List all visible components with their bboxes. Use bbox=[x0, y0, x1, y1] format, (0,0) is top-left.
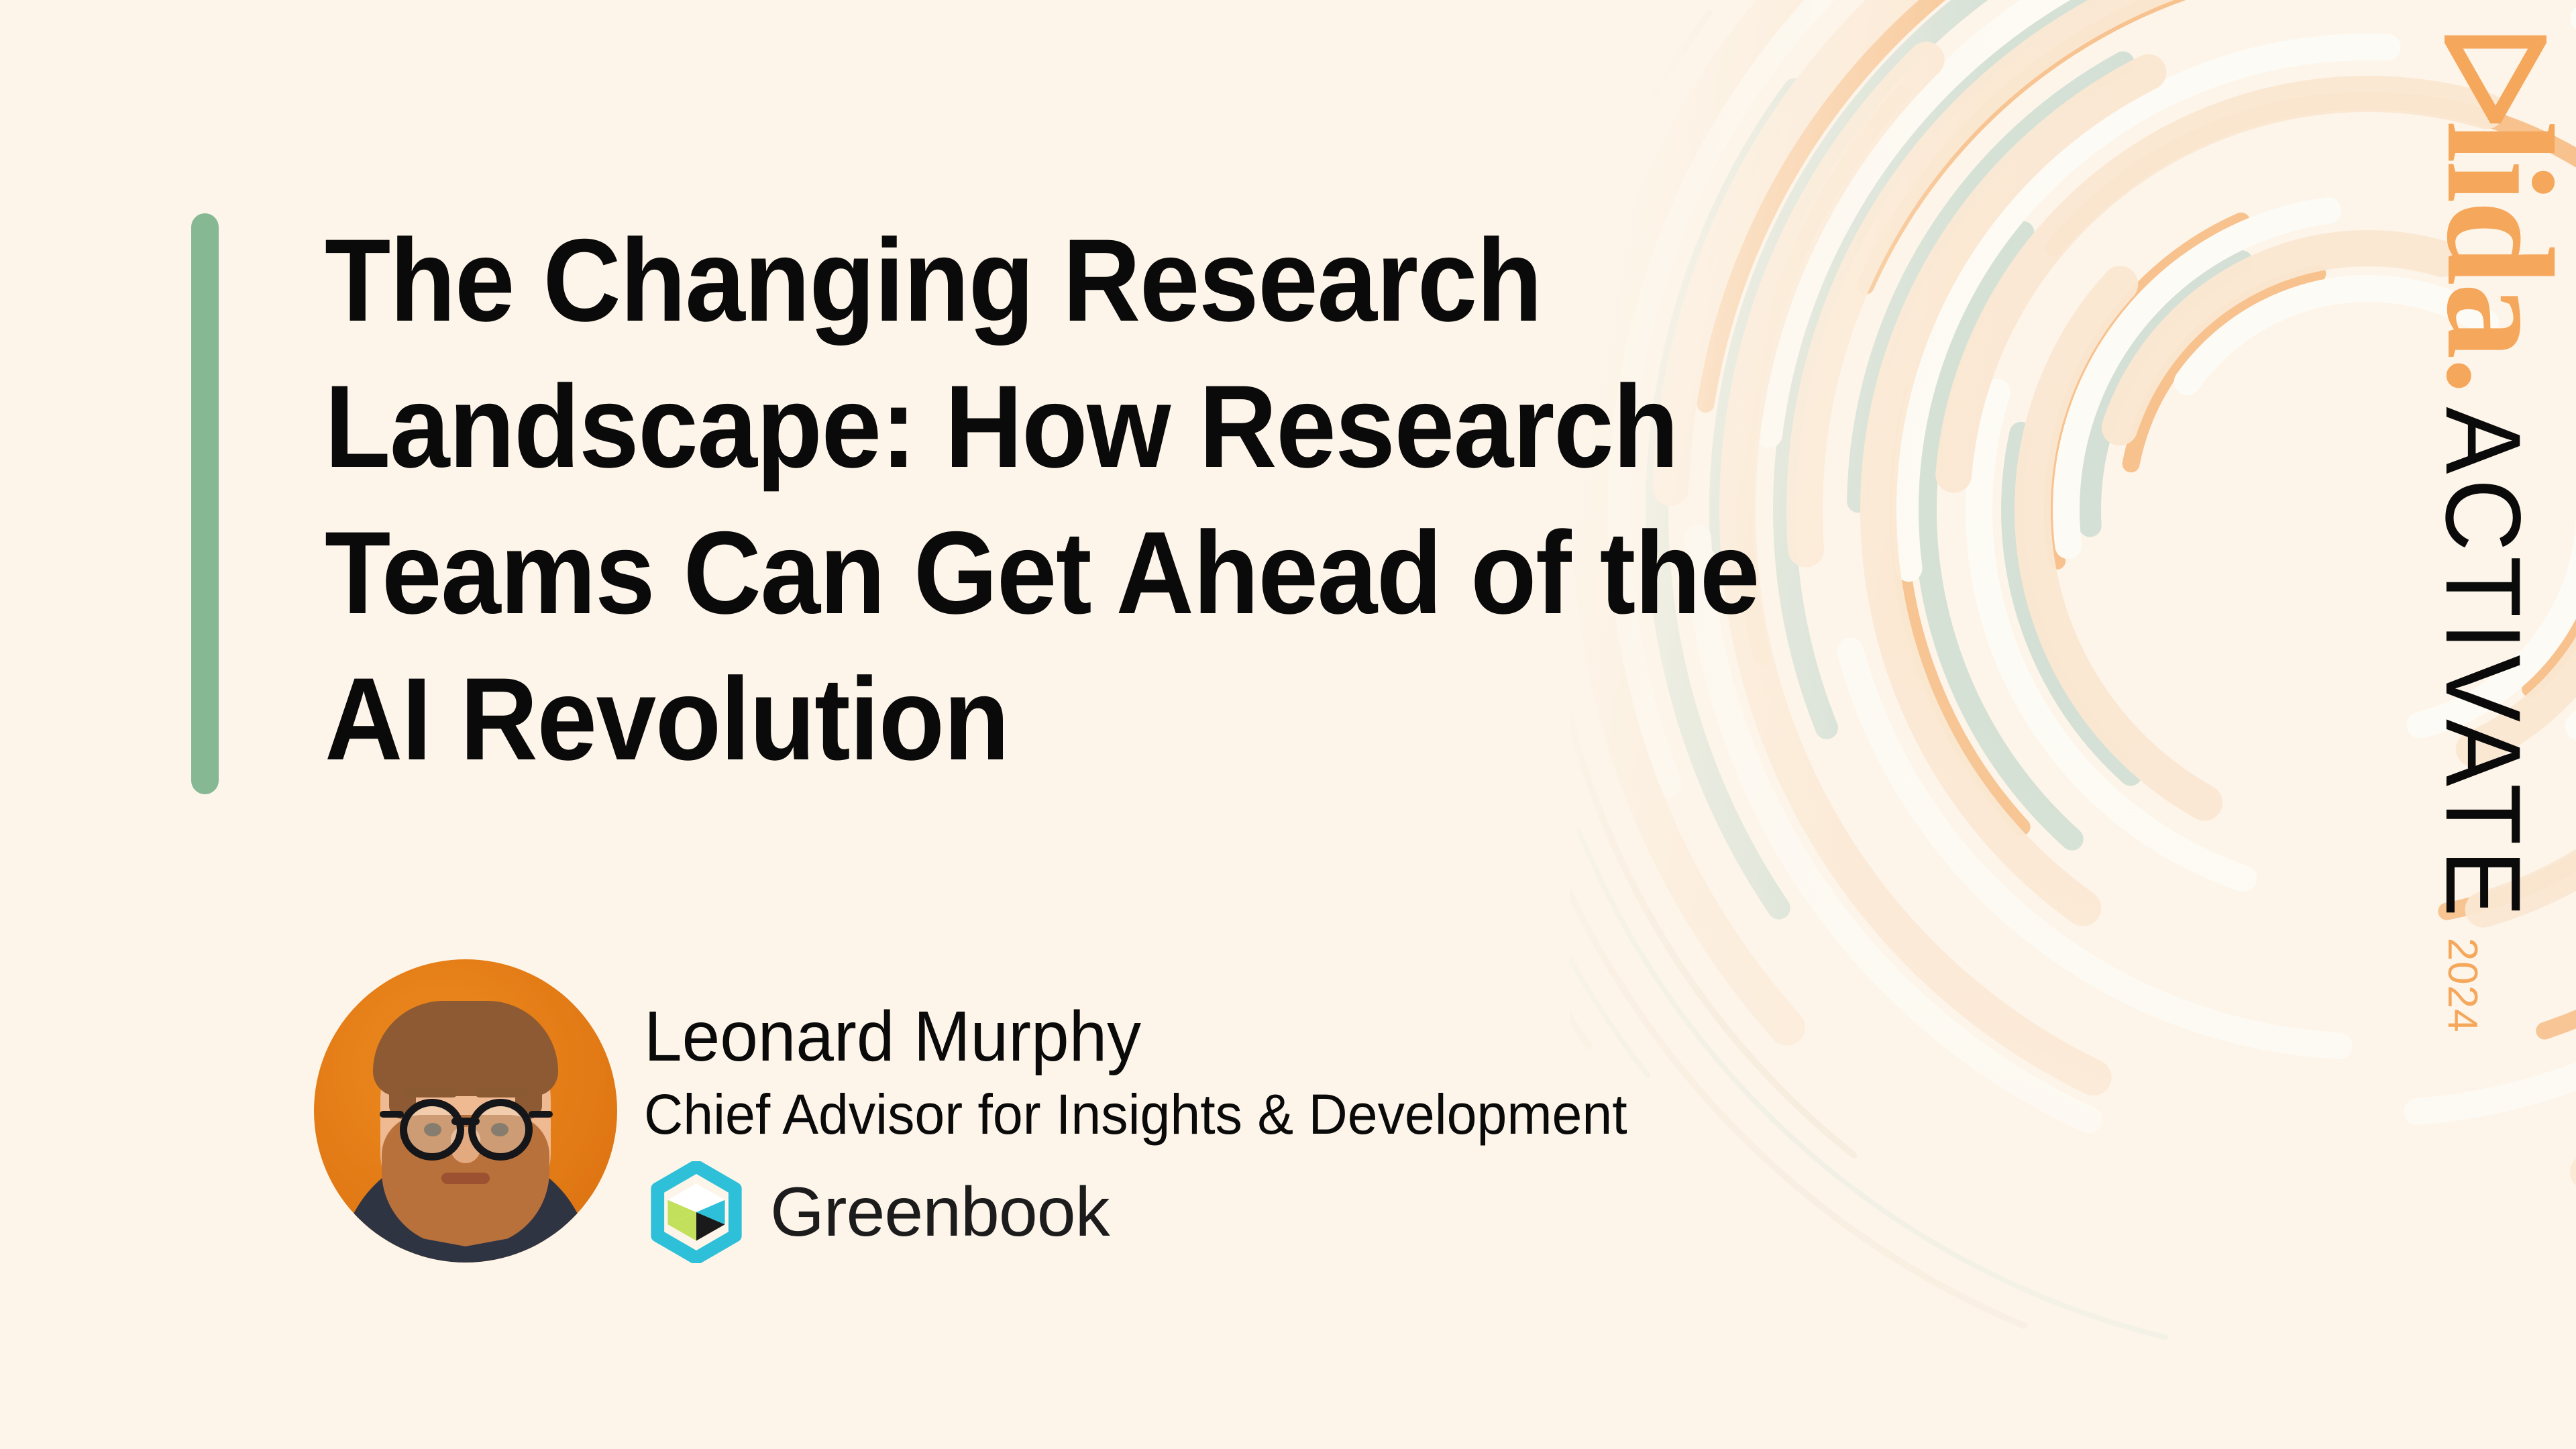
accent-bar bbox=[191, 213, 219, 794]
page-title: The Changing Research Landscape: How Res… bbox=[325, 208, 1763, 793]
speaker-details: Leonard Murphy Chief Advisor for Insight… bbox=[644, 949, 1668, 1263]
avatar bbox=[295, 949, 637, 1291]
organization-name: Greenbook bbox=[770, 1177, 1110, 1247]
alida-wordmark: lida. bbox=[2423, 35, 2576, 392]
brand-lockup: lida. ACTIVATE 2024 bbox=[2375, 0, 2576, 792]
organization: Greenbook bbox=[645, 1161, 1668, 1263]
speaker-name: Leonard Murphy bbox=[644, 999, 1627, 1074]
avatar-disc bbox=[314, 959, 617, 1263]
greenbook-logo-icon bbox=[645, 1161, 747, 1263]
alida-wordmark-letters: lida. bbox=[2423, 121, 2576, 392]
presentation-slide: The Changing Research Landscape: How Res… bbox=[0, 0, 2576, 1449]
event-year: 2024 bbox=[2441, 938, 2483, 1033]
speaker-block: Leonard Murphy Chief Advisor for Insight… bbox=[295, 949, 1668, 1291]
speaker-role: Chief Advisor for Insights & Development bbox=[644, 1083, 1627, 1145]
speaker-portrait-illustration bbox=[314, 959, 617, 1263]
alida-triangle-a-icon bbox=[2470, 35, 2572, 123]
activate-wordmark: ACTIVATE bbox=[2430, 407, 2537, 922]
